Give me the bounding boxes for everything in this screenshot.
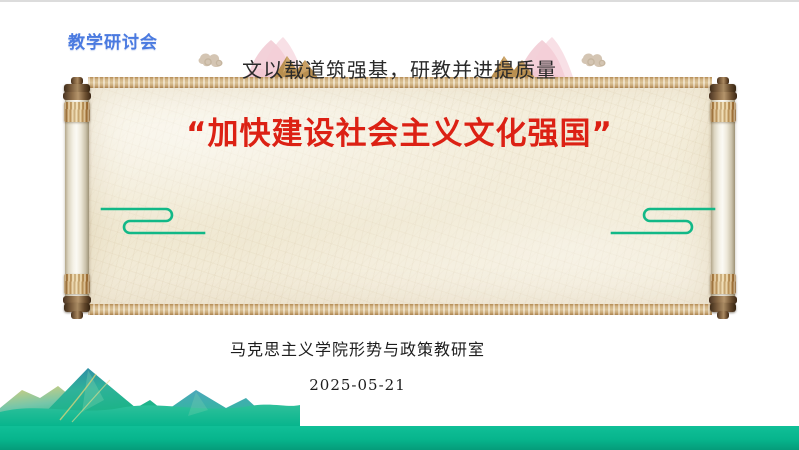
slide-main-title: “加快建设社会主义文化强国”: [0, 108, 799, 153]
presentation-slide: 教学研讨会: [0, 0, 799, 450]
finial-knob: [71, 311, 83, 319]
slide-footer: 马克思主义学院形势与政策教研室 2025-05-21: [0, 336, 799, 394]
topic-label: 教学研讨会: [68, 28, 158, 53]
bottom-accent-bar: [0, 426, 799, 450]
slide-subtitle: 文以载道筑强基，研教并进提质量: [0, 54, 799, 83]
scroll-paper-band-bottom: [88, 304, 712, 315]
scroll-rod-left-finial-bottom: [62, 294, 92, 320]
finial-collar-2: [709, 92, 737, 100]
finial-collar-2: [63, 92, 91, 100]
scroll-rod-right-band-bottom: [710, 274, 736, 294]
scroll-rod-right-finial-bottom: [708, 294, 738, 320]
footer-organization: 马克思主义学院形势与政策教研室: [0, 336, 715, 360]
footer-date: 2025-05-21: [0, 376, 715, 394]
finial-knob: [717, 311, 729, 319]
scroll-rod-left-band-bottom: [64, 274, 90, 294]
